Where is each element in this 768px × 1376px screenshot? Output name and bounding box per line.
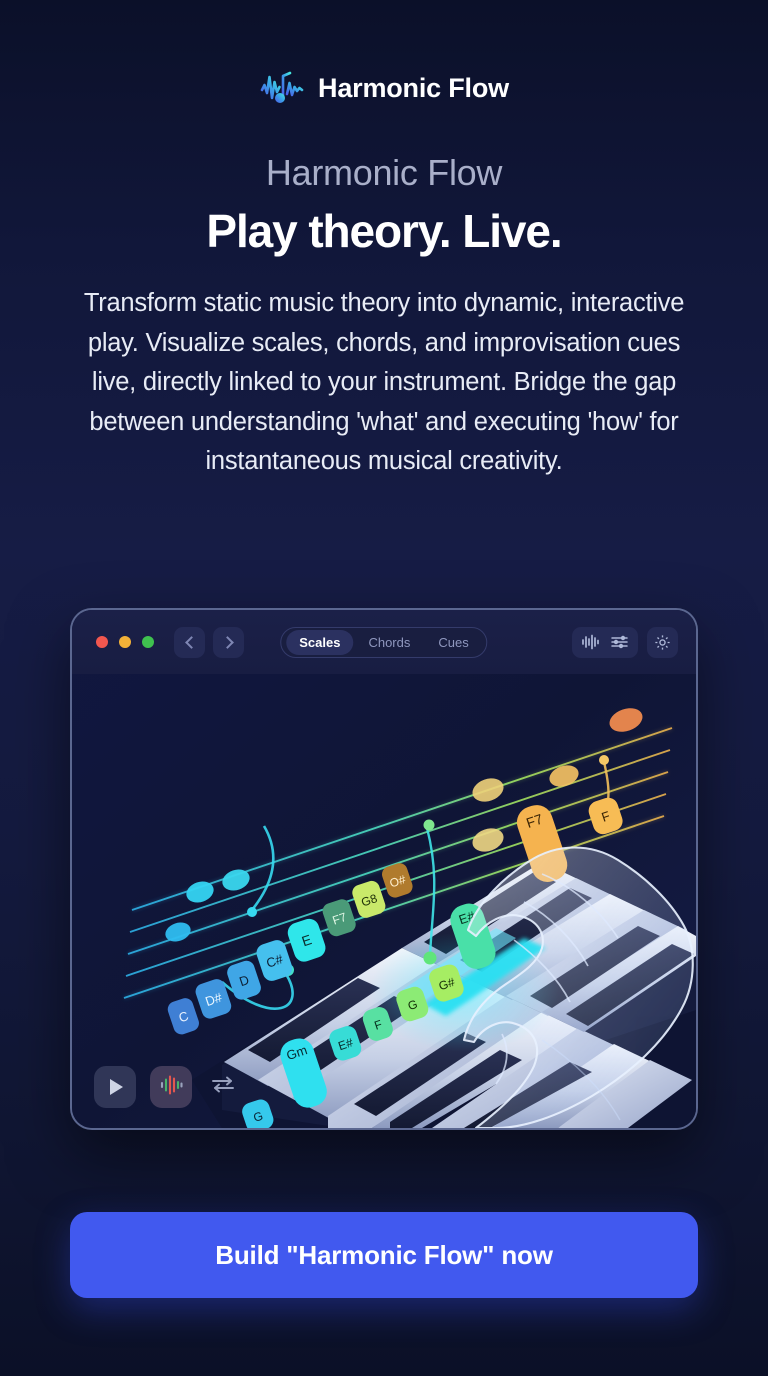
app-illustration: C D# D C# E F7 G8 O# Gm G E# F G G# — [72, 610, 696, 1128]
hero-description: Transform static music theory into dynam… — [76, 284, 692, 482]
tab-chords[interactable]: Chords — [355, 630, 423, 655]
player-controls — [94, 1066, 240, 1108]
page-title: Play theory. Live. — [0, 204, 768, 258]
gear-icon[interactable] — [647, 627, 678, 658]
brand-header: Harmonic Flow — [0, 0, 768, 108]
chevron-left-icon — [185, 636, 198, 649]
waveform-music-note-icon — [259, 68, 305, 108]
traffic-lights — [96, 636, 154, 648]
tab-cues[interactable]: Cues — [425, 630, 481, 655]
record-button[interactable] — [150, 1066, 192, 1108]
close-window-button[interactable] — [96, 636, 108, 648]
app-preview-window: C D# D C# E F7 G8 O# Gm G E# F G G# — [70, 608, 698, 1130]
waveform-icon[interactable] — [576, 627, 605, 658]
back-button[interactable] — [174, 627, 205, 658]
forward-button[interactable] — [213, 627, 244, 658]
tab-scales[interactable]: Scales — [286, 630, 353, 655]
brand-name: Harmonic Flow — [318, 73, 509, 104]
sliders-icon[interactable] — [605, 627, 634, 658]
build-cta-label: Build "Harmonic Flow" now — [215, 1240, 552, 1271]
chevron-right-icon — [221, 636, 234, 649]
build-cta-button[interactable]: Build "Harmonic Flow" now — [70, 1212, 698, 1298]
minimize-window-button[interactable] — [119, 636, 131, 648]
play-icon — [110, 1079, 123, 1095]
play-button[interactable] — [94, 1066, 136, 1108]
hero-eyebrow: Harmonic Flow — [0, 152, 768, 194]
tab-switcher: Scales Chords Cues — [280, 627, 487, 658]
record-waveform-icon — [159, 1074, 183, 1101]
window-titlebar: Scales Chords Cues — [72, 610, 696, 674]
mix-arrows-icon — [210, 1074, 236, 1101]
zoom-window-button[interactable] — [142, 636, 154, 648]
mix-arrows-button[interactable] — [206, 1072, 240, 1102]
